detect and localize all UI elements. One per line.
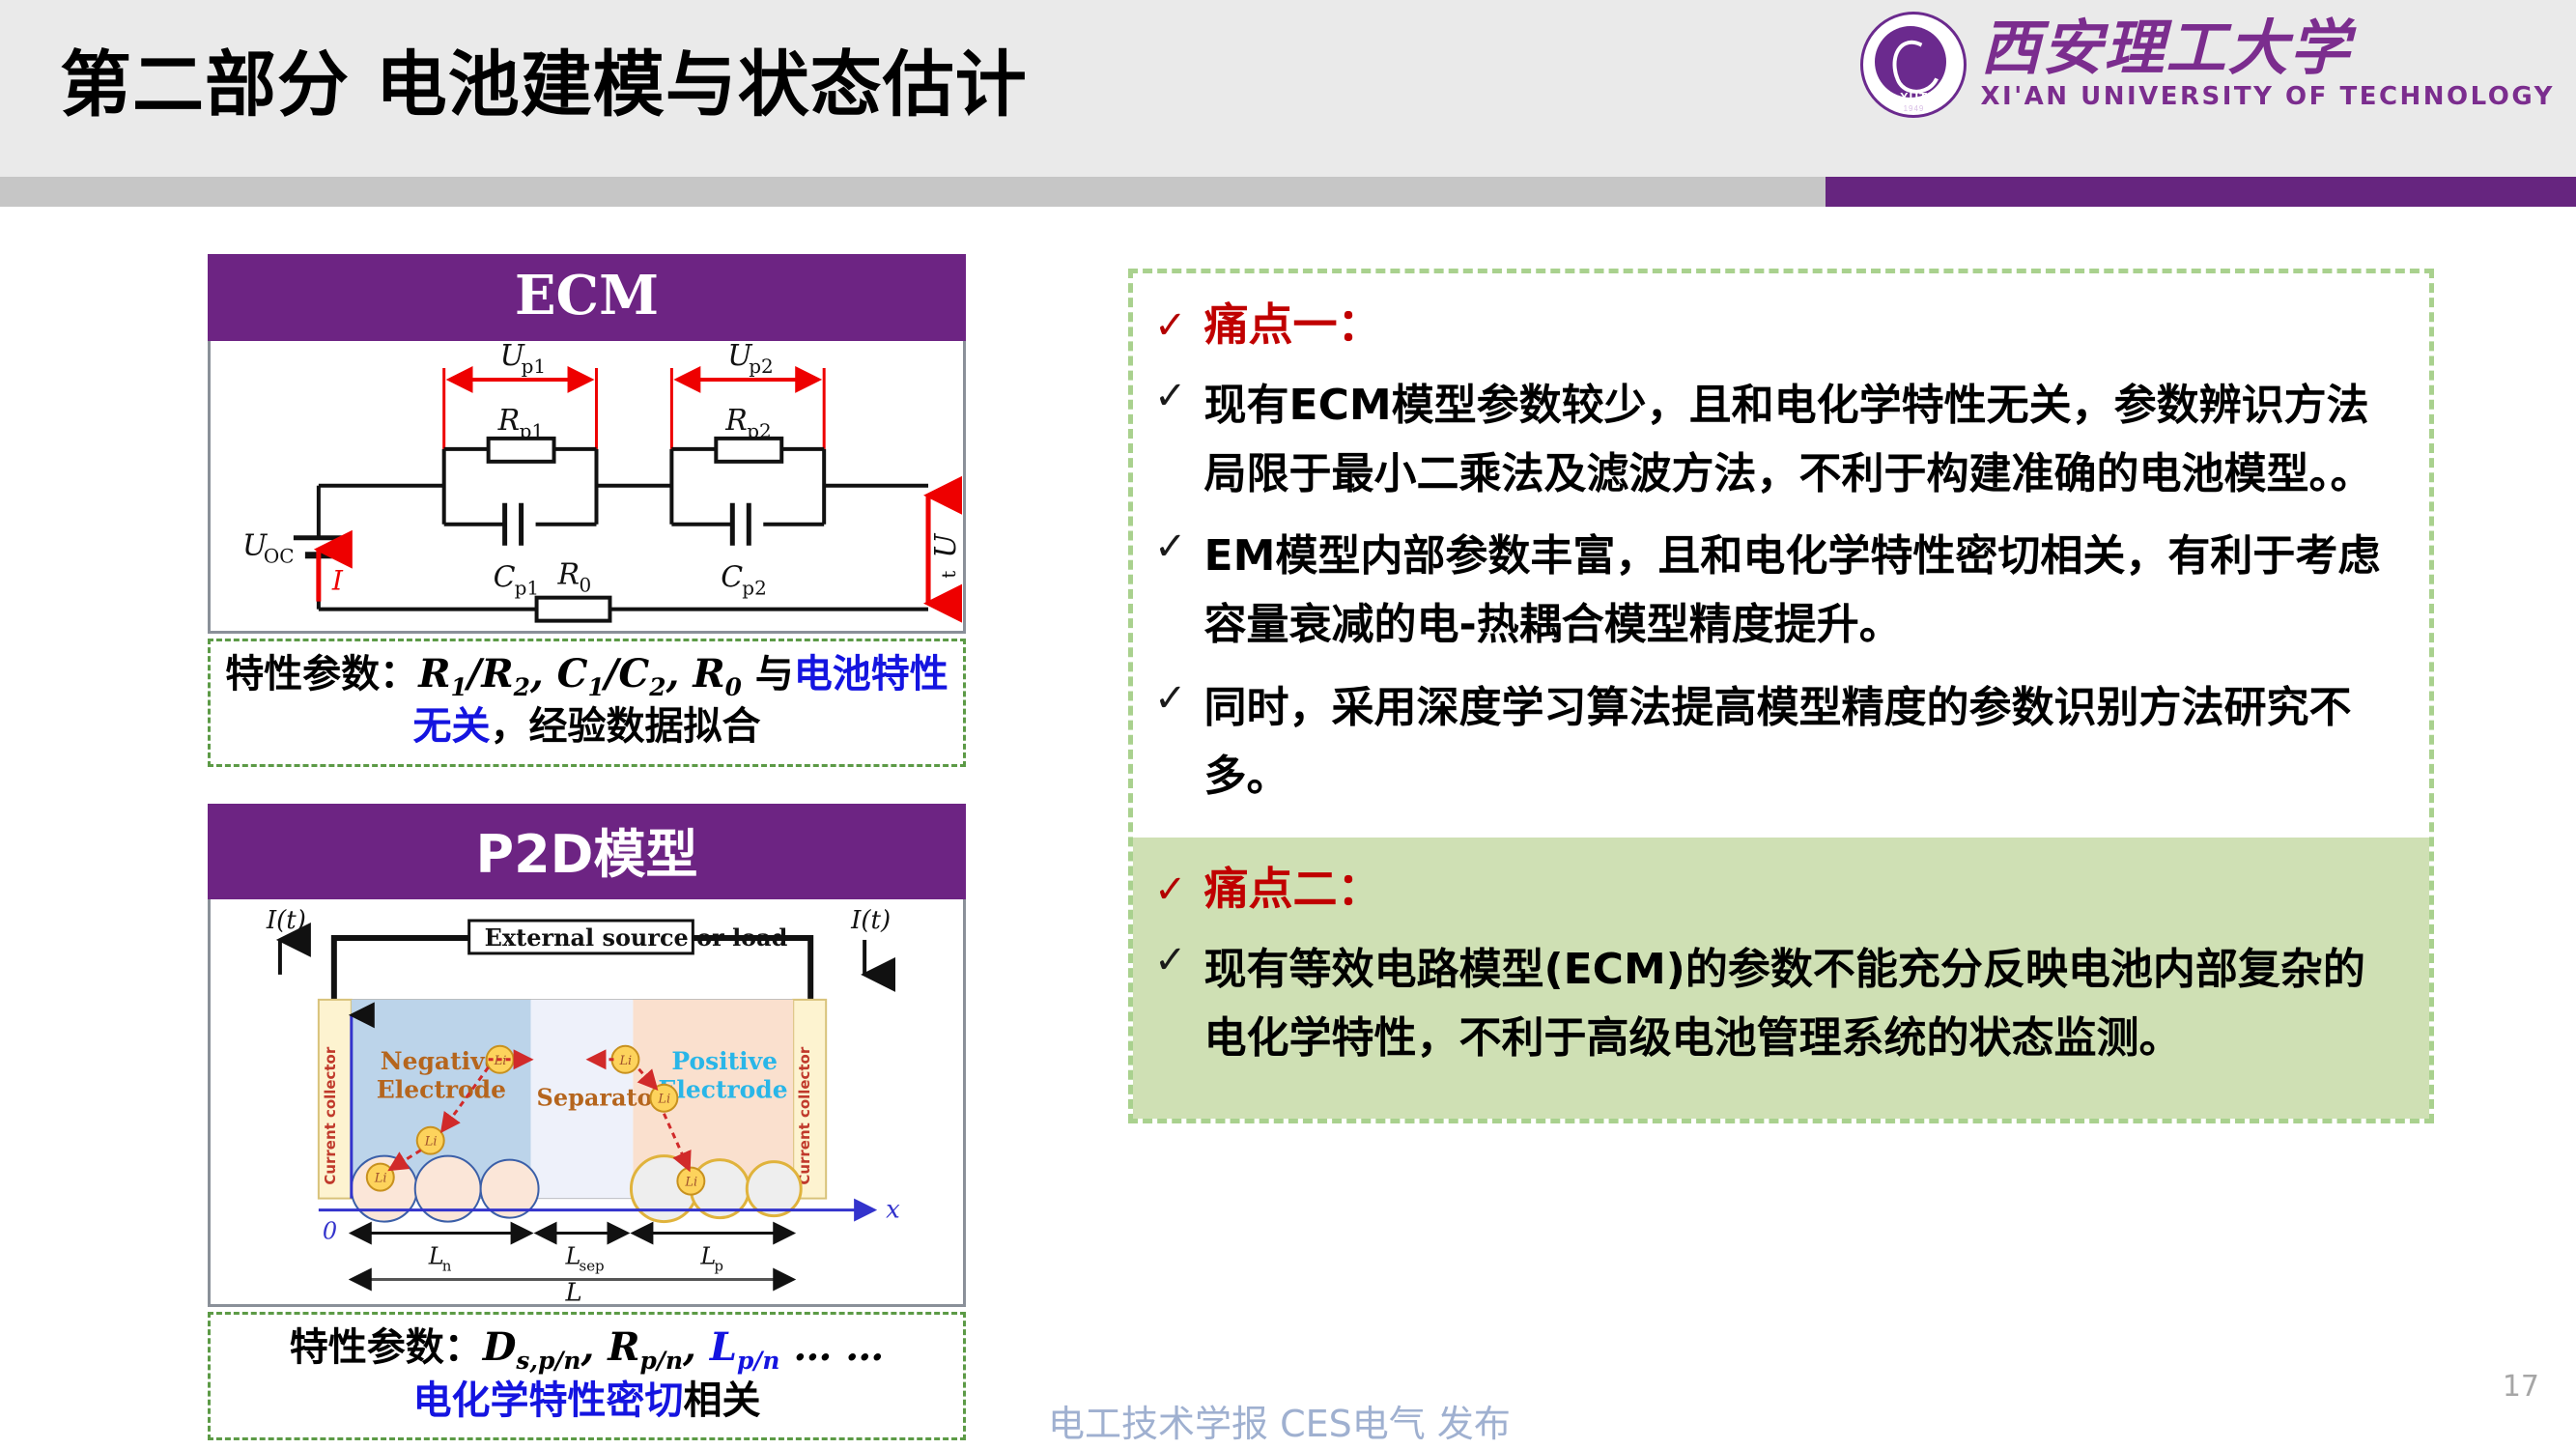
logo-name-cn: 西安理工大学: [1980, 18, 2351, 78]
svg-text:Positive: Positive: [671, 1046, 778, 1074]
list-item: ✓ EM模型内部参数丰富，且和电化学特性密切相关，有利于考虑容量衰减的电-热耦合…: [1154, 522, 2404, 660]
p2d-caption-tail: 相关: [684, 1378, 761, 1423]
p2d-caption-line-2: 电化学特性密切相关: [220, 1377, 953, 1426]
check-icon: ✓: [1154, 371, 1187, 415]
svg-text:R: R: [557, 558, 580, 592]
university-seal-icon: XUT 1949: [1860, 12, 1967, 118]
slide-header: 第二部分 电池建模与状态估计 XUT 1949 西安理工大学 XI'AN UNI…: [0, 0, 2576, 177]
check-icon: ✓: [1154, 673, 1187, 718]
ecm-circuit-diagram: U p1 U p2 R p1 R p2 C p1: [211, 341, 963, 631]
svg-text:Li: Li: [618, 1053, 632, 1067]
university-logo: XUT 1949 西安理工大学 XI'AN UNIVERSITY OF TECH…: [1860, 12, 2555, 118]
svg-text:x: x: [886, 1195, 900, 1224]
svg-text:p: p: [714, 1257, 723, 1274]
check-icon: ✓: [1154, 935, 1187, 980]
p2d-caption-line-1: 特性参数：Ds,p/n, Rp/n, Lp/n … …: [220, 1322, 953, 1377]
pain-point-two-heading: ✓ 痛点二：: [1154, 865, 2404, 914]
pain-two-bullet-1: 现有等效电路模型(ECM)的参数不能充分反映电池内部复杂的电化学特性，不利于高级…: [1204, 935, 2404, 1073]
svg-text:R: R: [724, 404, 748, 438]
svg-text:n: n: [442, 1257, 452, 1274]
footer-watermark: 电工技术学报 CES电气 发布: [1048, 1394, 1511, 1447]
p2d-card: P2D模型: [208, 804, 966, 1440]
ecm-caption-tail: ，经验数据拟合: [491, 704, 761, 749]
p2d-schematic-diagram: I(t) I(t) External source or load Curren…: [211, 899, 963, 1304]
svg-text:I(t): I(t): [266, 905, 306, 934]
page-number: 17: [2503, 1370, 2539, 1404]
svg-text:I: I: [331, 565, 344, 597]
p2d-card-title: P2D模型: [208, 804, 966, 899]
svg-text:C: C: [721, 561, 743, 595]
svg-text:p2: p2: [742, 577, 767, 600]
check-icon: ✓: [1154, 522, 1187, 566]
svg-text:0: 0: [323, 1217, 337, 1244]
svg-text:U: U: [929, 532, 963, 558]
svg-text:t: t: [937, 571, 960, 579]
svg-text:p2: p2: [749, 355, 774, 378]
svg-text:Current collector: Current collector: [796, 1046, 813, 1184]
ecm-card-title: ECM: [208, 254, 966, 341]
p2d-diagram-body: I(t) I(t) External source or load Curren…: [208, 899, 966, 1307]
list-item: ✓ 现有等效电路模型(ECM)的参数不能充分反映电池内部复杂的电化学特性，不利于…: [1154, 935, 2404, 1073]
ecm-diagram-body: U p1 U p2 R p1 R p2 C p1: [208, 341, 966, 634]
list-item: ✓ 同时，采用深度学习算法提高模型精度的参数识别方法研究不多。: [1154, 673, 2404, 811]
pain-one-bullet-3: 同时，采用深度学习算法提高模型精度的参数识别方法研究不多。: [1204, 673, 2404, 811]
pain-point-one-section: ✓ 痛点一： ✓ 现有ECM模型参数较少，且和电化学特性无关，参数辨识方法局限于…: [1133, 273, 2429, 838]
svg-text:C: C: [494, 561, 516, 595]
check-icon: ✓: [1154, 300, 1187, 345]
pain-point-one-title: 痛点一：: [1204, 300, 1382, 350]
svg-text:R: R: [497, 404, 521, 438]
svg-text:p1: p1: [522, 355, 547, 378]
svg-text:Li: Li: [424, 1134, 438, 1149]
seal-abbr: XUT: [1863, 90, 1964, 104]
pain-point-two-section: ✓ 痛点二： ✓ 现有等效电路模型(ECM)的参数不能充分反映电池内部复杂的电化…: [1133, 838, 2429, 1119]
pain-one-bullet-2: EM模型内部参数丰富，且和电化学特性密切相关，有利于考虑容量衰减的电-热耦合模型…: [1204, 522, 2404, 660]
svg-text:Li: Li: [657, 1092, 670, 1106]
ecm-caption-mid: 与: [755, 652, 794, 696]
svg-text:External source or load: External source or load: [485, 923, 788, 951]
page-title: 第二部分 电池建模与状态估计: [60, 27, 1028, 130]
p2d-caption-params: Ds,p/n, Rp/n, Lp/n … …: [483, 1324, 885, 1370]
svg-text:L: L: [565, 1278, 582, 1304]
svg-text:Electrode: Electrode: [377, 1075, 506, 1103]
p2d-caption-box: 特性参数：Ds,p/n, Rp/n, Lp/n … … 电化学特性密切相关: [208, 1312, 966, 1440]
header-divider-accent: [1826, 177, 2576, 207]
ecm-caption-prefix: 特性参数：: [225, 652, 418, 696]
ecm-caption-params: R1/R2, C1/C2, R0: [418, 651, 742, 696]
svg-text:0: 0: [580, 574, 592, 597]
ecm-caption-box: 特性参数：R1/R2, C1/C2, R0 与电池特性无关，经验数据拟合: [208, 639, 966, 767]
list-item: ✓ 现有ECM模型参数较少，且和电化学特性无关，参数辨识方法局限于最小二乘法及滤…: [1154, 371, 2404, 509]
svg-text:Li: Li: [374, 1171, 387, 1185]
pain-points-panel: ✓ 痛点一： ✓ 现有ECM模型参数较少，且和电化学特性无关，参数辨识方法局限于…: [1128, 269, 2434, 1123]
svg-text:sep: sep: [580, 1257, 605, 1274]
logo-name-en: XI'AN UNIVERSITY OF TECHNOLOGY: [1980, 82, 2555, 111]
svg-text:Negative: Negative: [381, 1046, 500, 1074]
svg-text:Li: Li: [684, 1175, 697, 1189]
svg-text:OC: OC: [264, 545, 295, 568]
svg-text:Current collector: Current collector: [322, 1046, 339, 1184]
svg-text:Separator: Separator: [537, 1084, 665, 1111]
check-icon: ✓: [1154, 865, 1187, 909]
p2d-caption-blue: 电化学特性密切: [413, 1378, 684, 1423]
ecm-card: ECM: [208, 254, 966, 767]
ecm-caption-line-1: 特性参数：R1/R2, C1/C2, R0 与电池特性无关，经验数据拟合: [220, 649, 953, 753]
pain-point-two-title: 痛点二：: [1204, 865, 1382, 914]
p2d-caption-prefix: 特性参数：: [290, 1325, 483, 1370]
left-column: ECM: [208, 254, 966, 1440]
pain-one-bullet-1: 现有ECM模型参数较少，且和电化学特性无关，参数辨识方法局限于最小二乘法及滤波方…: [1204, 371, 2404, 509]
svg-text:I(t): I(t): [850, 905, 891, 934]
seal-year: 1949: [1863, 104, 1964, 113]
logo-text-block: 西安理工大学 XI'AN UNIVERSITY OF TECHNOLOGY: [1980, 18, 2555, 111]
pain-point-one-heading: ✓ 痛点一：: [1154, 300, 2404, 350]
